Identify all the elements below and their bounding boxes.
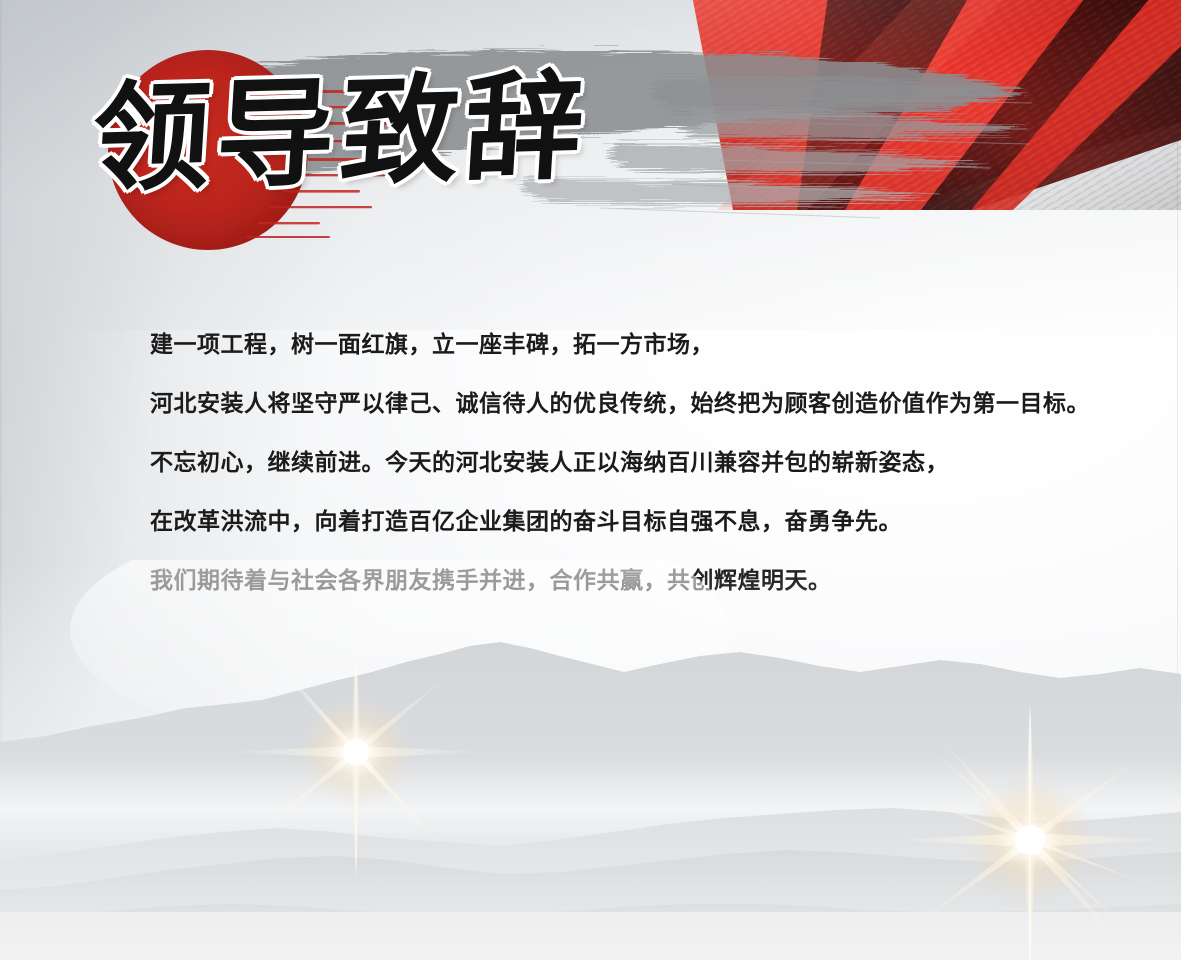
body-line: 建一项工程，树一面红旗，立一座丰碑，拓一方市场， (150, 332, 1110, 358)
page-title: 领导致辞 (86, 38, 718, 234)
brochure-page: 领导致辞 建一项工程，树一面红旗，立一座丰碑，拓一方市场， 河北安装人将坚守严以… (0, 0, 1181, 960)
body-line: 在改革洪流中，向着打造百亿企业集团的奋斗目标自强不息，奋勇争先。 (150, 509, 1110, 535)
body-line: 不忘初心，继续前进。今天的河北安装人正以海纳百川兼容并包的崭新姿态， (150, 450, 1110, 476)
title-artwork: 领导致辞 (60, 18, 1050, 288)
mountain-landscape (0, 560, 1181, 960)
address-body: 建一项工程，树一面红旗，立一座丰碑，拓一方市场， 河北安装人将坚守严以律己、诚信… (150, 332, 1110, 594)
body-line: 河北安装人将坚守严以律己、诚信待人的优良传统，始终把为顾客创造价值作为第一目标。 (150, 391, 1110, 417)
